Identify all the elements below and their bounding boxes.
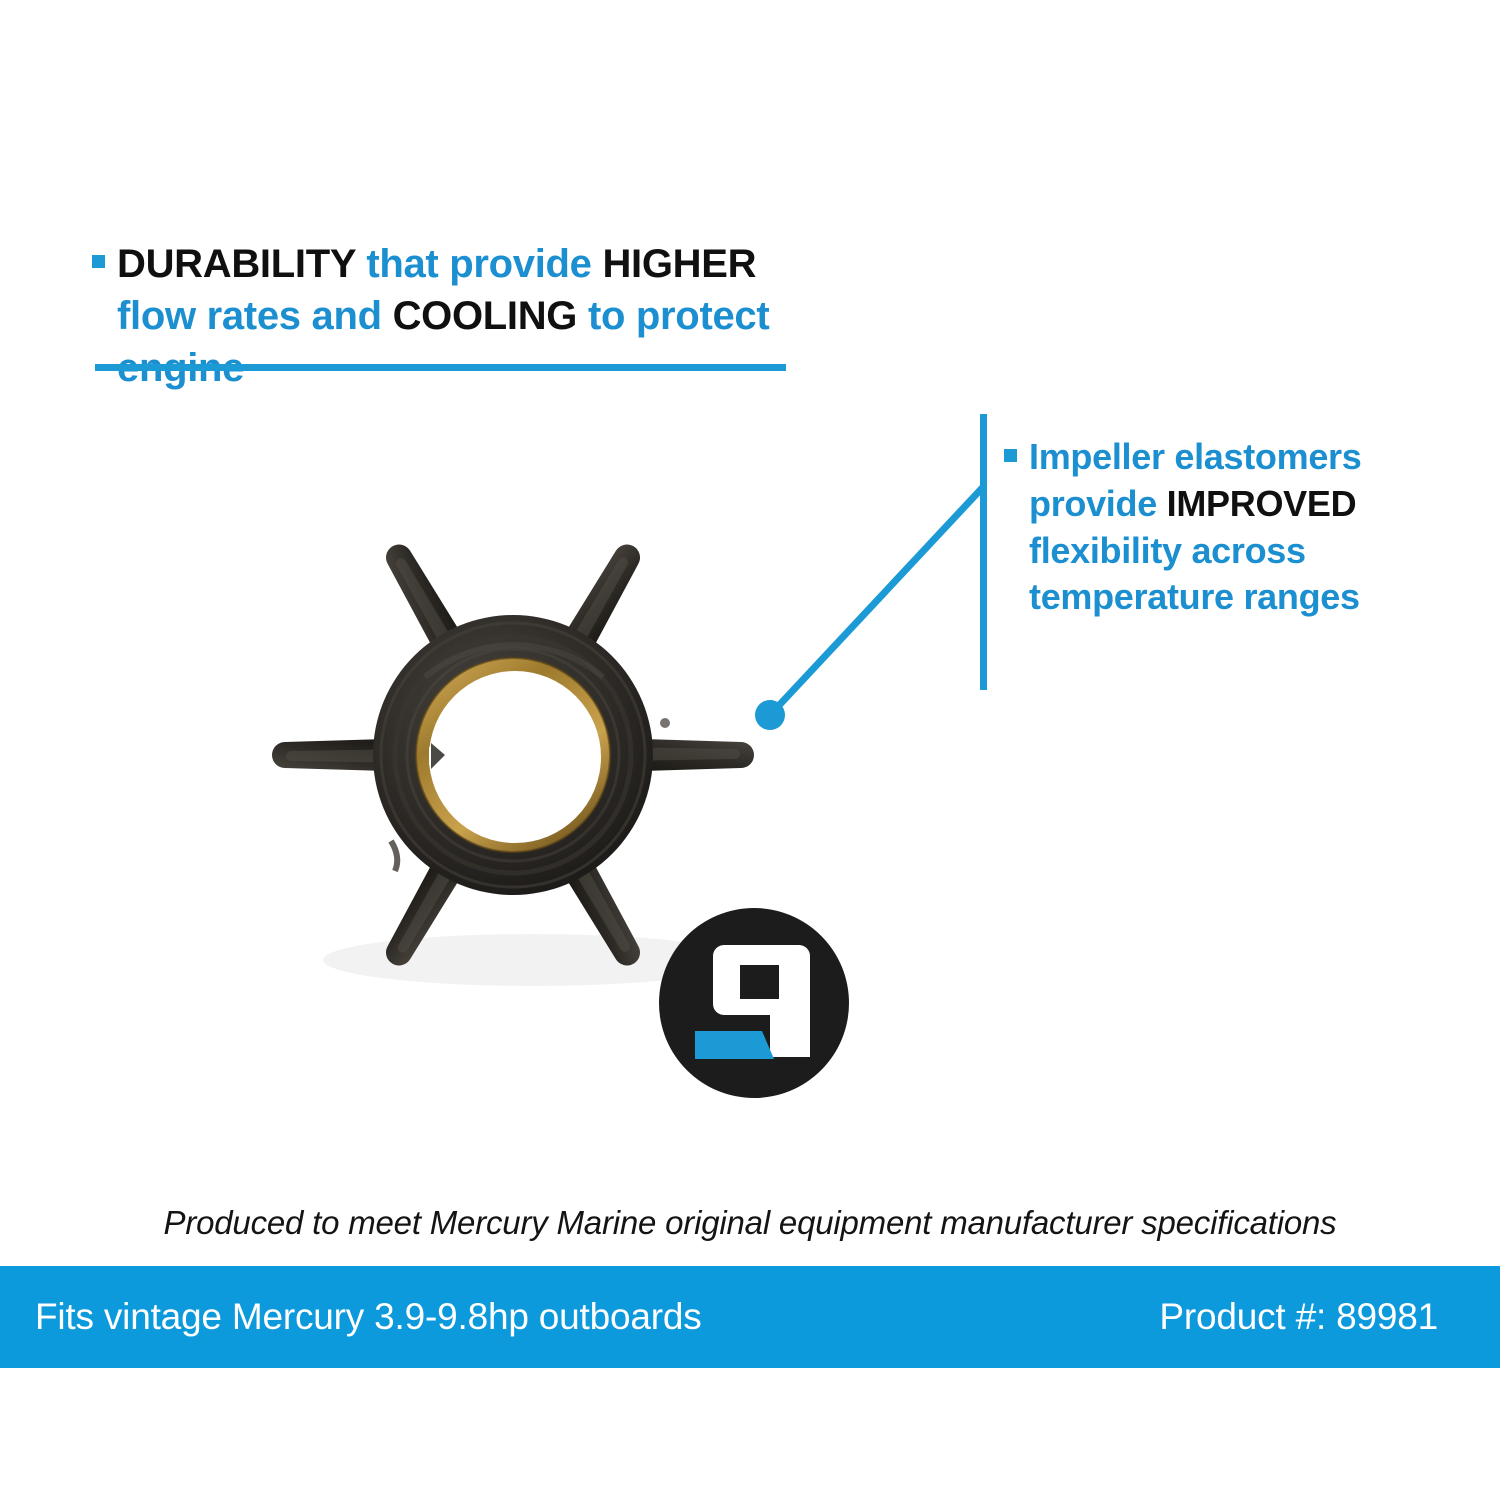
quicksilver-q-logo	[658, 907, 850, 1099]
callout-seg: that provide	[366, 242, 602, 286]
bottom-info-bar: Fits vintage Mercury 3.9-9.8hp outboards…	[0, 1266, 1500, 1368]
oem-specification-tagline: Produced to meet Mercury Marine original…	[0, 1204, 1500, 1242]
callout-seg: flow rates and	[117, 294, 393, 338]
callout-seg: IMPROVED	[1167, 483, 1357, 524]
product-infographic: DURABILITY that provide HIGHER flow rate…	[0, 0, 1500, 1500]
square-bullet-icon	[1004, 449, 1017, 462]
fitment-text: Fits vintage Mercury 3.9-9.8hp outboards	[35, 1296, 702, 1338]
callout-seg: flexibility across temperature ranges	[1029, 530, 1360, 618]
callout-elastomers-text: Impeller elastomers provide IMPROVED fle…	[1029, 434, 1424, 621]
callout-seg: COOLING	[393, 294, 588, 338]
divider-rule-durability	[95, 364, 786, 371]
product-number-text: Product #: 89981	[1159, 1296, 1438, 1338]
callout-seg: DURABILITY	[117, 242, 366, 286]
callout-elastomers: Impeller elastomers provide IMPROVED fle…	[1004, 434, 1424, 621]
callout-seg: HIGHER	[602, 242, 756, 286]
square-bullet-icon	[92, 255, 105, 268]
